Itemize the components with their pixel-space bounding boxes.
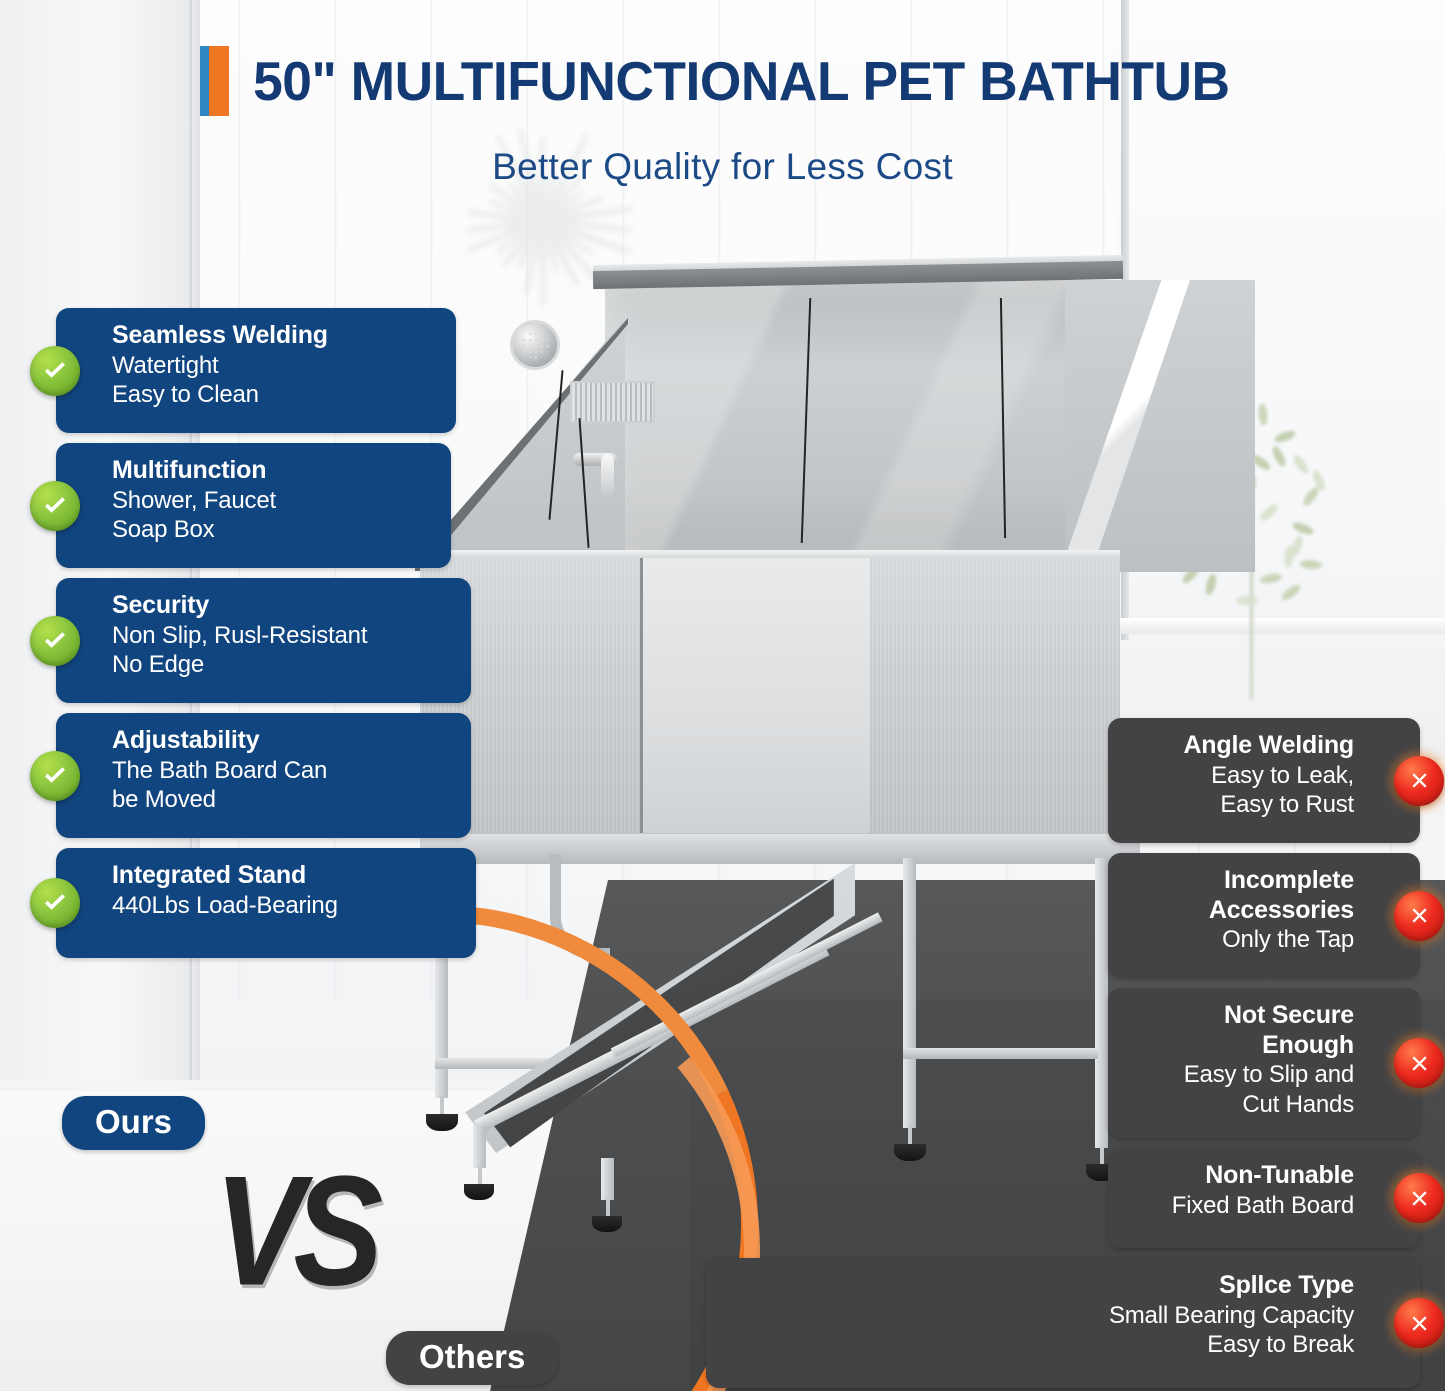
- ours-feature-detail: Shower, Faucet: [112, 486, 433, 516]
- cross-icon: [1394, 1173, 1444, 1223]
- accent-bar-orange: [209, 46, 229, 116]
- others-drawback-detail: Easy to Rust: [1128, 790, 1354, 820]
- others-drawback-title: Angle Welding: [1128, 731, 1354, 761]
- others-drawback-detail: Easy to Leak,: [1128, 761, 1354, 791]
- shower-head-icon: [510, 320, 560, 370]
- others-drawback-title: Non-Tunable: [1128, 1161, 1354, 1191]
- others-tag: Others: [386, 1331, 558, 1385]
- others-drawback-title: Incomplete Accessories: [1128, 866, 1354, 925]
- stand-leg-3: [1095, 858, 1108, 1148]
- others-drawback-card: Not Secure EnoughEasy to Slip andCut Han…: [1108, 988, 1420, 1138]
- check-icon: [30, 481, 80, 531]
- title-accent-bars: [200, 46, 229, 116]
- check-icon: [30, 346, 80, 396]
- cross-icon: [1394, 1038, 1444, 1088]
- soap-box: [570, 381, 655, 423]
- others-drawback-detail: Easy to Break: [726, 1330, 1354, 1360]
- ours-feature-detail: The Bath Board Can: [112, 756, 453, 786]
- ours-feature-card: Integrated Stand440Lbs Load-Bearing: [56, 848, 476, 958]
- ours-feature-detail: Watertight: [112, 351, 438, 381]
- cross-icon: [1394, 756, 1444, 806]
- others-drawback-title: Spllce Type: [726, 1271, 1354, 1301]
- ours-feature-detail: Non Slip, Rusl-Resistant: [112, 621, 453, 651]
- ours-feature-title: Integrated Stand: [112, 861, 458, 891]
- stand-leg-2: [903, 858, 916, 1128]
- others-drawback-detail: Only the Tap: [1128, 925, 1354, 955]
- check-icon: [30, 751, 80, 801]
- others-drawback-detail: Small Bearing Capacity: [726, 1301, 1354, 1331]
- title-row: 50" MULTIFUNCTIONAL PET BATHTUB: [0, 46, 1445, 116]
- ours-feature-detail: be Moved: [112, 785, 453, 815]
- others-drawback-detail: Fixed Bath Board: [1128, 1191, 1354, 1221]
- foot-stem-3: [1100, 1146, 1104, 1166]
- ours-feature-title: Multifunction: [112, 456, 433, 486]
- page-title: 50" MULTIFUNCTIONAL PET BATHTUB: [253, 54, 1229, 109]
- others-drawback-card: Angle WeldingEasy to Leak,Easy to Rust: [1108, 718, 1420, 843]
- others-drawback-detail: Easy to Slip and: [1128, 1060, 1354, 1090]
- accent-bar-blue: [200, 46, 209, 116]
- ours-feature-title: Security: [112, 591, 453, 621]
- stand-crossbar-2: [903, 1048, 1098, 1059]
- ours-feature-detail: 440Lbs Load-Bearing: [112, 891, 458, 921]
- ours-tag: Ours: [62, 1096, 205, 1150]
- others-drawback-detail: Cut Hands: [1128, 1090, 1354, 1120]
- infographic-canvas: 50" MULTIFUNCTIONAL PET BATHTUB Better Q…: [0, 0, 1445, 1391]
- tub-back-panel: [605, 280, 1105, 570]
- check-icon: [30, 616, 80, 666]
- foot-stem-2: [908, 1126, 912, 1146]
- ours-feature-title: Seamless Welding: [112, 321, 438, 351]
- faucet-handle: [601, 454, 614, 498]
- ours-feature-detail: Soap Box: [112, 515, 433, 545]
- cross-icon: [1394, 1298, 1444, 1348]
- check-icon: [30, 878, 80, 928]
- movable-bath-board: [640, 558, 870, 833]
- tub-base-frame: [420, 834, 1140, 864]
- others-drawback-card: Spllce TypeSmall Bearing CapacityEasy to…: [706, 1258, 1420, 1388]
- adjustable-foot-2: [894, 1144, 926, 1161]
- ours-feature-title: Adjustability: [112, 726, 453, 756]
- others-drawback-card: Non-TunableFixed Bath Board: [1108, 1148, 1420, 1248]
- ours-feature-card: SecurityNon Slip, Rusl-ResistantNo Edge: [56, 578, 471, 703]
- ours-feature-card: AdjustabilityThe Bath Board Canbe Moved: [56, 713, 471, 838]
- vs-label: VS: [214, 1154, 372, 1310]
- ours-feature-card: MultifunctionShower, FaucetSoap Box: [56, 443, 451, 568]
- page-subtitle: Better Quality for Less Cost: [0, 146, 1445, 188]
- others-drawback-card: Incomplete AccessoriesOnly the Tap: [1108, 853, 1420, 978]
- others-drawback-title: Not Secure Enough: [1128, 1001, 1354, 1060]
- ours-feature-detail: No Edge: [112, 650, 453, 680]
- ours-feature-detail: Easy to Clean: [112, 380, 438, 410]
- cross-icon: [1394, 891, 1444, 941]
- ours-feature-card: Seamless WeldingWatertightEasy to Clean: [56, 308, 456, 433]
